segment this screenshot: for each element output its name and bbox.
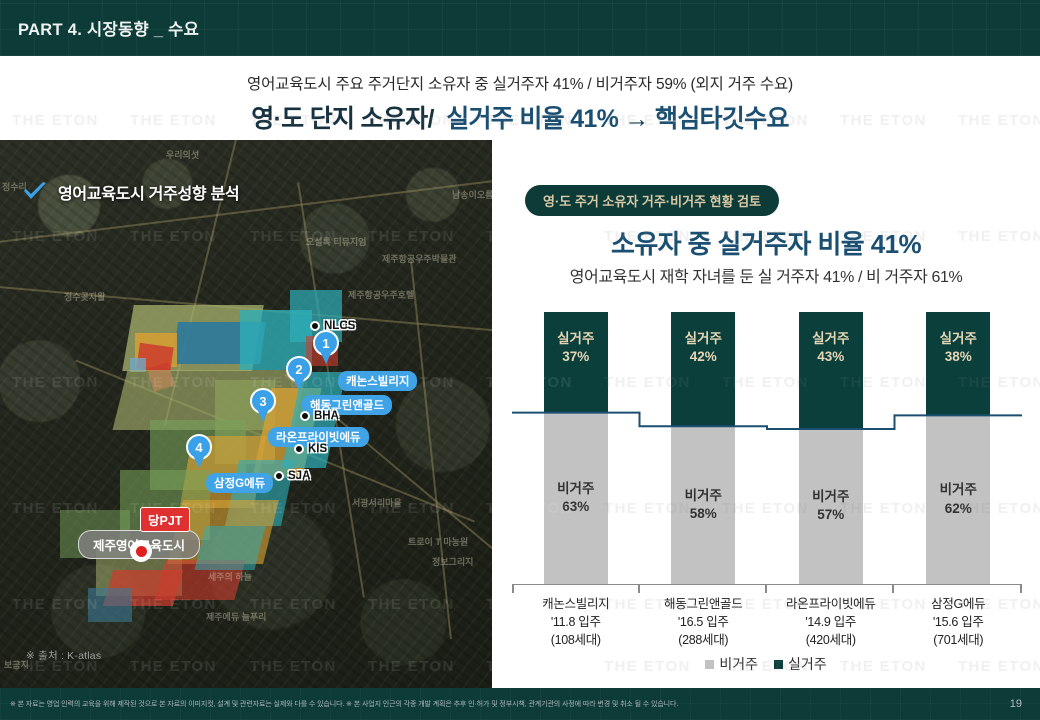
map-geo-label: 정수곶자왈 [64,290,105,303]
axis-tick [638,585,640,593]
bar-label-non-resident-name: 비거주 [812,488,849,506]
x-axis-category-label: 삼정G에듀'15.6 입주(701세대) [895,595,1023,649]
map-pin-3-tail [257,409,269,422]
legend-label-non-resident: 비거주 [719,654,758,674]
x-axis-label-line: '15.6 입주 [895,613,1023,631]
title-zone: 영어교육도시 주요 주거단지 소유자 중 실거주자 41% / 비거주자 59%… [0,56,1040,140]
bar-segment-resident: 실거주38% [926,312,990,415]
legend-swatch-icon [774,660,783,669]
bar-segment-non-resident: 비거주63% [544,413,608,584]
map-heading-label: 영어교육도시 거주성향 분석 [58,180,239,204]
x-axis-label-line: 캐논스빌리지 [512,595,640,613]
check-icon [22,182,48,202]
map-geo-label: 우리의섯 [166,148,199,161]
bar-label-resident-value: 43% [817,348,844,366]
map-school-kis[interactable]: KIS [294,443,327,455]
chart-legend: 비거주 실거주 [492,654,1040,674]
bar-segment-non-resident: 비거주57% [799,429,863,584]
bar-label-resident-name: 실거주 [685,330,722,348]
bar-column[interactable]: 실거주37%비거주63% [544,312,608,584]
bar-label-resident-name: 실거주 [557,330,594,348]
x-axis-label-line: '16.5 입주 [640,613,768,631]
school-bha-label: BHA [314,410,339,422]
bar-label-resident-name: 실거주 [940,330,977,348]
axis-tick [765,585,767,593]
map-geo-label: 남송이오름 [452,188,492,201]
bar-segment-resident: 실거주43% [799,312,863,429]
map-geo-label: 트로이 T 마농원 [408,535,468,548]
bar-label-non-resident-value: 57% [817,506,844,524]
bar-segment-resident: 실거주37% [544,312,608,413]
x-axis-label-line: (420세대) [767,631,895,649]
bar-segment-non-resident: 비거주58% [671,426,735,584]
chart-plot-area: 실거주37%비거주63%실거주42%비거주58%실거주43%비거주57%실거주3… [512,312,1022,608]
bar-label-non-resident-value: 63% [562,498,589,516]
slide-footer: ※ 본 자료는 영업 인력의 교육을 위해 제작된 것으로 본 자료의 이미지컷… [0,688,1040,720]
map-zone [88,588,132,622]
bar-label-resident-value: 37% [562,348,589,366]
bar-label-resident-value: 42% [690,348,717,366]
map-school-bha[interactable]: BHA [300,410,339,422]
map-school-nlcs[interactable]: NLCS [310,320,355,332]
axis-tick [512,585,514,593]
school-dot-icon [294,444,304,454]
headline-arrow: → [624,105,648,133]
bar-label-non-resident-value: 58% [690,505,717,523]
slide-header-bar: PART 4. 시장동향 _ 수요 [0,0,1040,56]
x-axis-label-line: 라온프라이빗에듀 [767,595,895,613]
school-sja-label: SJA [288,470,310,482]
school-dot-icon [310,321,320,331]
headline-part1: 영·도 단지 소유자 [251,105,427,133]
map-source-note: ※ 출처 : K-atlas [26,648,101,663]
x-axis-label-line: (701세대) [895,631,1023,649]
map-geo-label: 정보그리지 [432,555,473,568]
project-marker-label[interactable]: 당PJT [140,507,190,532]
slide-subtitle: 영어교육도시 주요 주거단지 소유자 중 실거주자 41% / 비거주자 59%… [0,72,1040,94]
map-pin-2-tail [293,377,305,390]
bar-segment-resident: 실거주42% [671,312,735,426]
slide-headline: 영·도 단지 소유자/ 실거주 비율 41% → 핵심타깃수요 [0,99,1040,135]
x-axis-category-label: 해동그린앤골드'16.5 입주(288세대) [640,595,768,649]
x-axis-label-line: (288세대) [640,631,768,649]
map-pin-4-tail [193,455,205,468]
school-kis-label: KIS [308,443,327,455]
axis-tick [892,585,894,593]
bar-label-non-resident-value: 62% [945,500,972,518]
map-pin-3[interactable]: 3 [250,388,276,422]
legend-item-non-resident: 비거주 [705,654,758,674]
bar-segment-non-resident: 비거주62% [926,415,990,584]
map-label-canons-village[interactable]: 캐논스빌리지 [338,371,417,391]
map-label-samjeong-g-edu[interactable]: 삼정G에듀 [206,473,273,493]
chart-title: 소유자 중 실거주자 비율 41% [492,224,1040,261]
axis-tick [1020,585,1022,593]
school-nlcs-label: NLCS [324,320,355,332]
legend-swatch-icon [705,660,714,669]
bar-column[interactable]: 실거주38%비거주62% [926,312,990,584]
x-axis-label-line: (108세대) [512,631,640,649]
chart-x-axis [512,584,1022,592]
bar-label-resident-value: 38% [945,348,972,366]
footer-disclaimer: ※ 본 자료는 영업 인력의 교육을 위해 제작된 것으로 본 자료의 이미지컷… [10,699,678,709]
map-pin-4[interactable]: 4 [186,434,212,468]
headline-part2: 실거주 비율 41% [446,105,618,133]
chart-badge: 영·도 주거 소유자 거주·비거주 현황 검토 [525,185,779,216]
legend-item-resident: 실거주 [774,654,827,674]
map-geo-label: 제주항공우주호텔 [348,288,414,301]
bar-label-resident-name: 실거주 [812,330,849,348]
x-axis-label-line: '11.8 입주 [512,613,640,631]
map-geo-label: 오설록 티뮤지엄 [306,235,366,248]
x-axis-label-line: 삼정G에듀 [895,595,1023,613]
x-axis-label-line: '14.9 입주 [767,613,895,631]
x-axis-label-line: 해동그린앤골드 [640,595,768,613]
map-pin-1-tail [320,351,332,364]
map-pin-1[interactable]: 1 [313,330,339,364]
page-number: 19 [1010,698,1022,710]
headline-part3: 핵심타깃수요 [655,105,789,133]
map-geo-label: 서광서리마을 [352,496,402,509]
map-heading-group: 영어교육도시 거주성향 분석 [22,180,239,204]
map-geo-label: 제주항공우주박물관 [382,252,457,265]
bar-label-non-resident-name: 비거주 [940,481,977,499]
part-title: PART 4. 시장동향 _ 수요 [18,16,199,40]
bar-column[interactable]: 실거주42%비거주58% [671,312,735,584]
bar-label-non-resident-name: 비거주 [557,480,594,498]
map-pin-2[interactable]: 2 [286,356,312,390]
headline-slash: / [427,105,433,133]
map-zone [195,526,266,570]
project-target-icon[interactable] [130,540,152,562]
map-school-sja[interactable]: SJA [274,470,310,482]
school-dot-icon [300,411,310,421]
bar-label-non-resident-name: 비거주 [685,487,722,505]
school-dot-icon [274,471,284,481]
x-axis-category-label: 캐논스빌리지'11.8 입주(108세대) [512,595,640,649]
bar-column[interactable]: 실거주43%비거주57% [799,312,863,584]
chart-panel: 영·도 주거 소유자 거주·비거주 현황 검토 소유자 중 실거주자 비율 41… [492,140,1040,688]
map-panel[interactable]: 우리의섯 정수리 정수곶자왈 오설록 티뮤지엄 제주항공우주박물관 제주항공우주… [0,140,492,688]
legend-label-resident: 실거주 [788,654,827,674]
x-axis-category-label: 라온프라이빗에듀'14.9 입주(420세대) [767,595,895,649]
map-geo-label: 세주의 하늘 [208,570,252,583]
chart-subtitle: 영어교육도시 재학 자녀를 둔 실 거주자 41% / 비 거주자 61% [492,263,1040,287]
map-geo-label: 제주에듀 늘푸리 [206,610,266,623]
